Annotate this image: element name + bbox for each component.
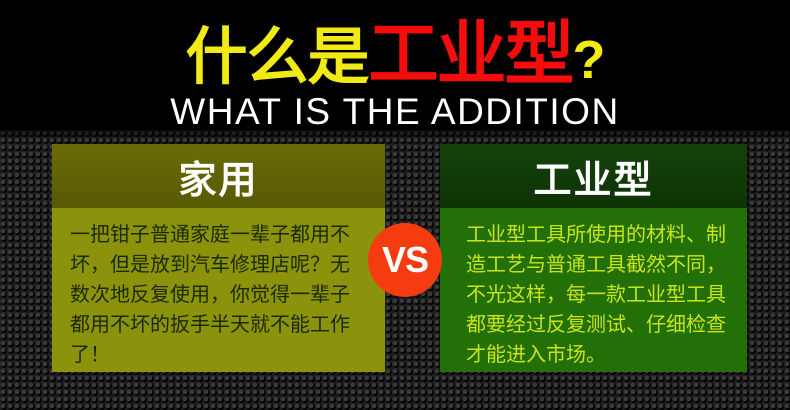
card-left-body: 一把钳子普通家庭一辈子都用不坏，但是放到汽车修理店呢？无数次地反复使用，你觉得一… bbox=[52, 208, 385, 370]
card-right-title: 工业型 bbox=[440, 144, 747, 208]
headline-part-red: 工业型 bbox=[369, 15, 573, 93]
page-title: 什么是工业型? bbox=[0, 22, 790, 92]
page-subtitle: WHAT IS THE ADDITION bbox=[0, 92, 790, 132]
headline-question-mark: ? bbox=[573, 30, 605, 90]
poster-canvas: 什么是工业型? WHAT IS THE ADDITION 家用 一把钳子普通家庭… bbox=[0, 0, 790, 410]
headline-part-yellow: 什么是 bbox=[185, 23, 368, 92]
comparison-card-home-use: 家用 一把钳子普通家庭一辈子都用不坏，但是放到汽车修理店呢？无数次地反复使用，你… bbox=[52, 144, 385, 372]
card-left-title: 家用 bbox=[52, 144, 385, 208]
card-right-body: 工业型工具所使用的材料、制造工艺与普通工具截然不同，不光这样，每一款工业型工具都… bbox=[440, 208, 747, 370]
comparison-card-industrial: 工业型 工业型工具所使用的材料、制造工艺与普通工具截然不同，不光这样，每一款工业… bbox=[440, 144, 747, 372]
vs-badge: VS bbox=[368, 223, 442, 297]
